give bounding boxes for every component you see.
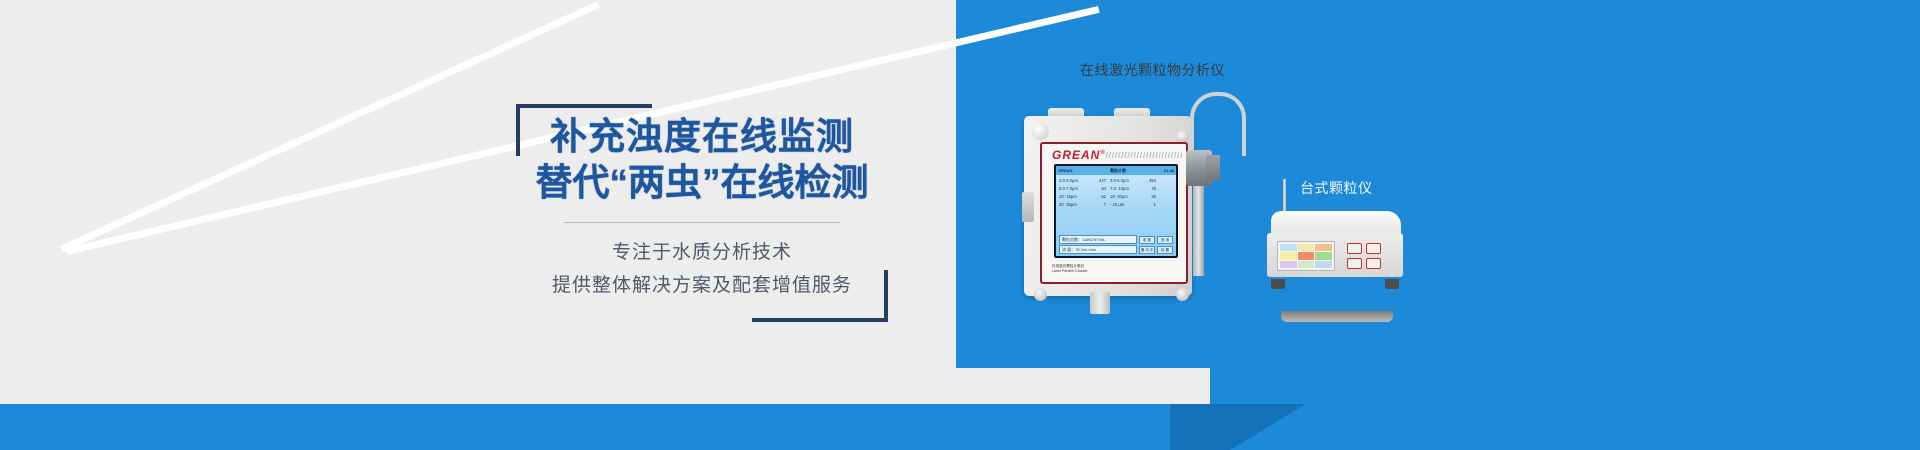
- cell-range-a: 2.0-3.0µm: [1059, 177, 1090, 185]
- brand-logo-text: GREAN: [1052, 148, 1100, 162]
- subtitle-line-1: 专注于水质分析技术: [516, 236, 888, 269]
- lcd-button-parameters[interactable]: 参 数: [1139, 236, 1155, 244]
- screen-tile[interactable]: [1280, 244, 1297, 251]
- lcd-status-area: 颗粒总数：1166CNT/mL 参 数 查 询 流 量：78.2mL/min 通…: [1056, 233, 1176, 256]
- nameplate-english: Laser Particle Counter: [1052, 269, 1088, 274]
- cell-value-b: 454: [1140, 177, 1156, 185]
- screen-tile[interactable]: [1315, 261, 1332, 268]
- lcd-title-center: 颗粒计数: [1110, 168, 1126, 174]
- benchtop-touch-screen[interactable]: [1277, 241, 1335, 271]
- keypad-button[interactable]: [1347, 243, 1362, 254]
- screen-tile[interactable]: [1298, 261, 1315, 268]
- cell-range-b: 15- 20µm: [1106, 193, 1140, 201]
- sensor-stem: [1193, 186, 1204, 276]
- analyzer-screw-bottom-right: [1176, 288, 1189, 301]
- logo-hatch-pattern: [1104, 152, 1182, 158]
- lcd-status-row-2: 流 量：78.2mL/min 通 讯 中 设 置: [1059, 245, 1173, 254]
- background-blue-bottom-bar: [0, 404, 1920, 450]
- analyzer-front-bezel: GREAN® GREAN 颗粒计数 01:48 2.0-3.0µm: [1040, 142, 1188, 284]
- analyzer-cable-gland: [1090, 292, 1110, 314]
- brand-logo: GREAN®: [1052, 148, 1106, 162]
- keypad-button[interactable]: [1366, 243, 1381, 254]
- screen-tile[interactable]: [1315, 244, 1332, 251]
- table-row: 20- 25µm 7 - 25 µm 1: [1059, 201, 1173, 209]
- screen-tile[interactable]: [1298, 252, 1315, 259]
- cell-range-a: 10- 15µm: [1059, 193, 1090, 201]
- cell-value-b: 35: [1140, 193, 1156, 201]
- table-row: 2.0-3.0µm 447 3.0-5.0µm 454: [1059, 177, 1173, 185]
- keypad-button[interactable]: [1347, 258, 1362, 269]
- page-title: 补充浊度在线监测 替代“两虫”在线检测: [516, 114, 888, 206]
- lcd-button-query[interactable]: 查 询: [1157, 236, 1173, 244]
- benchtop-sample-tray: [1281, 311, 1393, 322]
- lcd-title-bar: GREAN 颗粒计数 01:48: [1056, 166, 1176, 175]
- analyzer-enclosure: GREAN® GREAN 颗粒计数 01:48 2.0-3.0µm: [1024, 116, 1192, 296]
- cell-range-a: 5.0-7.0µm: [1059, 185, 1090, 193]
- screen-tile[interactable]: [1280, 252, 1297, 259]
- headline-line-1: 补充浊度在线监测: [516, 114, 888, 160]
- headline-text-block: 补充浊度在线监测 替代“两虫”在线检测 专注于水质分析技术 提供整体解决方案及配…: [516, 104, 888, 322]
- screen-tile[interactable]: [1280, 261, 1297, 268]
- cell-range-b: 7.0- 10µm: [1106, 185, 1140, 193]
- screen-tile[interactable]: [1298, 244, 1315, 251]
- online-laser-particle-analyzer: GREAN® GREAN 颗粒计数 01:48 2.0-3.0µm: [1018, 104, 1198, 309]
- benchtop-keypad[interactable]: [1347, 243, 1381, 269]
- subtitle-text: 专注于水质分析技术 提供整体解决方案及配套增值服务: [516, 236, 888, 302]
- analyzer-hinge-knob: [1032, 124, 1049, 140]
- subtitle-line-2: 提供整体解决方案及配套增值服务: [516, 269, 888, 302]
- lcd-title-left: GREAN: [1058, 168, 1072, 173]
- lcd-title-right: 01:48: [1164, 168, 1174, 173]
- lcd-inner-panel: GREAN 颗粒计数 01:48 2.0-3.0µm 447 3.0-5.0µm…: [1056, 166, 1176, 256]
- analyzer-side-port: [1022, 192, 1034, 222]
- table-row: 10- 15µm 52 15- 20µm 35: [1059, 193, 1173, 201]
- cell-value-b: 76: [1140, 185, 1156, 193]
- sensor-cap: [1206, 155, 1220, 181]
- cell-value-a: 94: [1090, 185, 1106, 193]
- product-label-online-analyzer: 在线激光颗粒物分析仪: [1080, 60, 1225, 80]
- table-row: 5.0-7.0µm 94 7.0- 10µm 76: [1059, 185, 1173, 193]
- lcd-flow-rate-field: 流 量：78.2mL/min: [1059, 245, 1137, 254]
- screen-tile[interactable]: [1315, 252, 1332, 259]
- benchtop-front-panel: [1267, 233, 1403, 277]
- cell-value-a: 52: [1090, 193, 1106, 201]
- cell-value-b: 1: [1140, 201, 1156, 209]
- cell-value-a: 447: [1090, 177, 1106, 185]
- headline-line-2: 替代“两虫”在线检测: [516, 160, 888, 206]
- cell-range-b: 3.0-5.0µm: [1106, 177, 1140, 185]
- lcd-status-comm: 通 讯 中: [1139, 246, 1155, 254]
- cell-value-a: 7: [1090, 201, 1106, 209]
- lcd-button-settings[interactable]: 设 置: [1157, 246, 1173, 254]
- sample-tubing: [1190, 92, 1246, 156]
- analyzer-screw-bottom-left: [1034, 288, 1047, 301]
- cell-range-a: 20- 25µm: [1059, 201, 1090, 209]
- promo-banner: 补充浊度在线监测 替代“两虫”在线检测 专注于水质分析技术 提供整体解决方案及配…: [0, 0, 1920, 450]
- cell-range-b: - 25 µm: [1106, 201, 1140, 209]
- headline-divider: [564, 222, 840, 223]
- analyzer-nameplate: 在线激光颗粒计数仪 Laser Particle Counter: [1052, 264, 1088, 274]
- lcd-particle-table: 2.0-3.0µm 447 3.0-5.0µm 454 5.0-7.0µm 94…: [1056, 175, 1176, 233]
- benchtop-foot-left: [1271, 279, 1285, 289]
- benchtop-particle-counter: [1265, 195, 1407, 300]
- benchtop-foot-right: [1385, 279, 1399, 289]
- lcd-status-row-1: 颗粒总数：1166CNT/mL 参 数 查 询: [1059, 235, 1173, 244]
- keypad-button[interactable]: [1366, 258, 1381, 269]
- analyzer-lcd-screen[interactable]: GREAN 颗粒计数 01:48 2.0-3.0µm 447 3.0-5.0µm…: [1054, 164, 1178, 258]
- lcd-total-count-field: 颗粒总数：1166CNT/mL: [1059, 235, 1137, 244]
